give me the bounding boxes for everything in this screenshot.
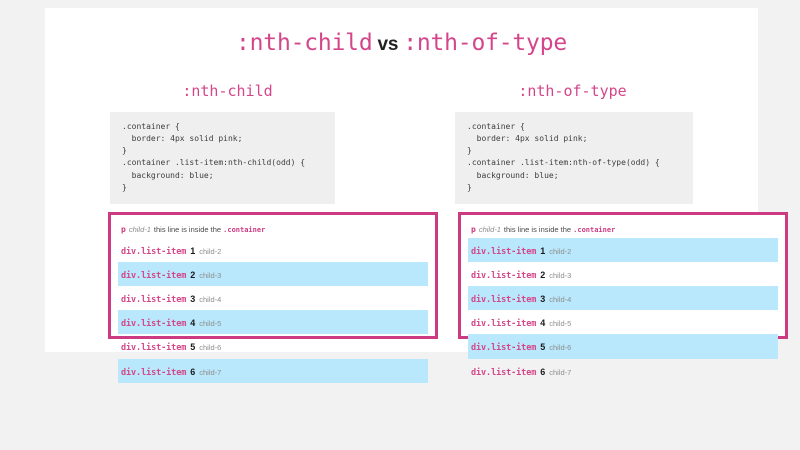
- list-items-right: div.list-item1child-2 div.list-item2chil…: [468, 238, 778, 383]
- list-item-number: 3: [536, 294, 546, 304]
- list-item-selector: div.list-item: [121, 319, 186, 329]
- list-item: div.list-item6child-7: [118, 359, 428, 383]
- list-item: div.list-item2child-3: [468, 262, 778, 286]
- list-item: div.list-item1child-2: [468, 238, 778, 262]
- list-item: div.list-item6child-7: [468, 359, 778, 383]
- p-text: this line is inside the: [154, 225, 221, 234]
- column-nth-of-type: :nth-of-type .container { border: 4px so…: [410, 82, 735, 204]
- list-item: div.list-item5child-6: [118, 334, 428, 358]
- list-item-child-index: child-5: [196, 319, 221, 328]
- list-item-number: 4: [186, 318, 196, 328]
- title-selector-right: :nth-of-type: [403, 30, 567, 56]
- list-item: div.list-item5child-6: [468, 334, 778, 358]
- list-item: div.list-item3child-4: [118, 286, 428, 310]
- code-block-left: .container { border: 4px solid pink; } .…: [110, 112, 335, 204]
- list-item: div.list-item3child-4: [468, 286, 778, 310]
- list-item-child-index: child-5: [546, 319, 571, 328]
- p-class-ref: .container: [573, 226, 615, 234]
- list-item: div.list-item4child-5: [118, 310, 428, 334]
- code-block-right: .container { border: 4px solid pink; } .…: [455, 112, 693, 204]
- p-class-ref: .container: [223, 226, 265, 234]
- list-item-number: 1: [536, 246, 546, 256]
- list-item-child-index: child-2: [196, 247, 221, 256]
- p-child-index: child-1: [126, 225, 154, 234]
- list-item-number: 3: [186, 294, 196, 304]
- list-item-number: 1: [186, 246, 196, 256]
- list-item-selector: div.list-item: [121, 368, 186, 378]
- list-item-child-index: child-7: [546, 368, 571, 377]
- list-item: div.list-item2child-3: [118, 262, 428, 286]
- list-item-selector: div.list-item: [121, 247, 186, 257]
- title-selector-left: :nth-child: [236, 30, 372, 56]
- list-item-child-index: child-4: [196, 295, 221, 304]
- list-item: div.list-item4child-5: [468, 310, 778, 334]
- demo-paragraph-left: pchild-1this line is inside the .contain…: [118, 223, 428, 238]
- list-item-number: 5: [186, 342, 196, 352]
- title-vs-label: vs: [372, 34, 403, 55]
- list-item-child-index: child-4: [546, 295, 571, 304]
- list-item-selector: div.list-item: [471, 247, 536, 257]
- slide-card: :nth-childvs:nth-of-type :nth-child .con…: [45, 8, 758, 352]
- list-item-number: 2: [186, 270, 196, 280]
- list-item-selector: div.list-item: [121, 343, 186, 353]
- list-item-child-index: child-3: [546, 271, 571, 280]
- list-item-number: 2: [536, 270, 546, 280]
- list-item-child-index: child-3: [196, 271, 221, 280]
- column-heading-left: :nth-child: [65, 82, 390, 100]
- column-nth-child: :nth-child .container { border: 4px soli…: [65, 82, 390, 204]
- list-items-left: div.list-item1child-2 div.list-item2chil…: [118, 238, 428, 383]
- p-text: this line is inside the: [504, 225, 571, 234]
- list-item-selector: div.list-item: [121, 271, 186, 281]
- list-item-selector: div.list-item: [471, 271, 536, 281]
- list-item-child-index: child-7: [196, 368, 221, 377]
- list-item-child-index: child-6: [546, 343, 571, 352]
- list-item: div.list-item1child-2: [118, 238, 428, 262]
- list-item-number: 6: [186, 367, 196, 377]
- list-item-child-index: child-6: [196, 343, 221, 352]
- demo-container-left: pchild-1this line is inside the .contain…: [108, 212, 438, 339]
- p-child-index: child-1: [476, 225, 504, 234]
- list-item-selector: div.list-item: [471, 368, 536, 378]
- page-title: :nth-childvs:nth-of-type: [45, 30, 758, 56]
- list-item-selector: div.list-item: [471, 343, 536, 353]
- demo-container-right: pchild-1this line is inside the .contain…: [458, 212, 788, 339]
- list-item-selector: div.list-item: [471, 319, 536, 329]
- list-item-number: 5: [536, 342, 546, 352]
- list-item-number: 4: [536, 318, 546, 328]
- list-item-selector: div.list-item: [471, 295, 536, 305]
- list-item-child-index: child-2: [546, 247, 571, 256]
- demo-paragraph-right: pchild-1this line is inside the .contain…: [468, 223, 778, 238]
- list-item-selector: div.list-item: [121, 295, 186, 305]
- column-heading-right: :nth-of-type: [410, 82, 735, 100]
- list-item-number: 6: [536, 367, 546, 377]
